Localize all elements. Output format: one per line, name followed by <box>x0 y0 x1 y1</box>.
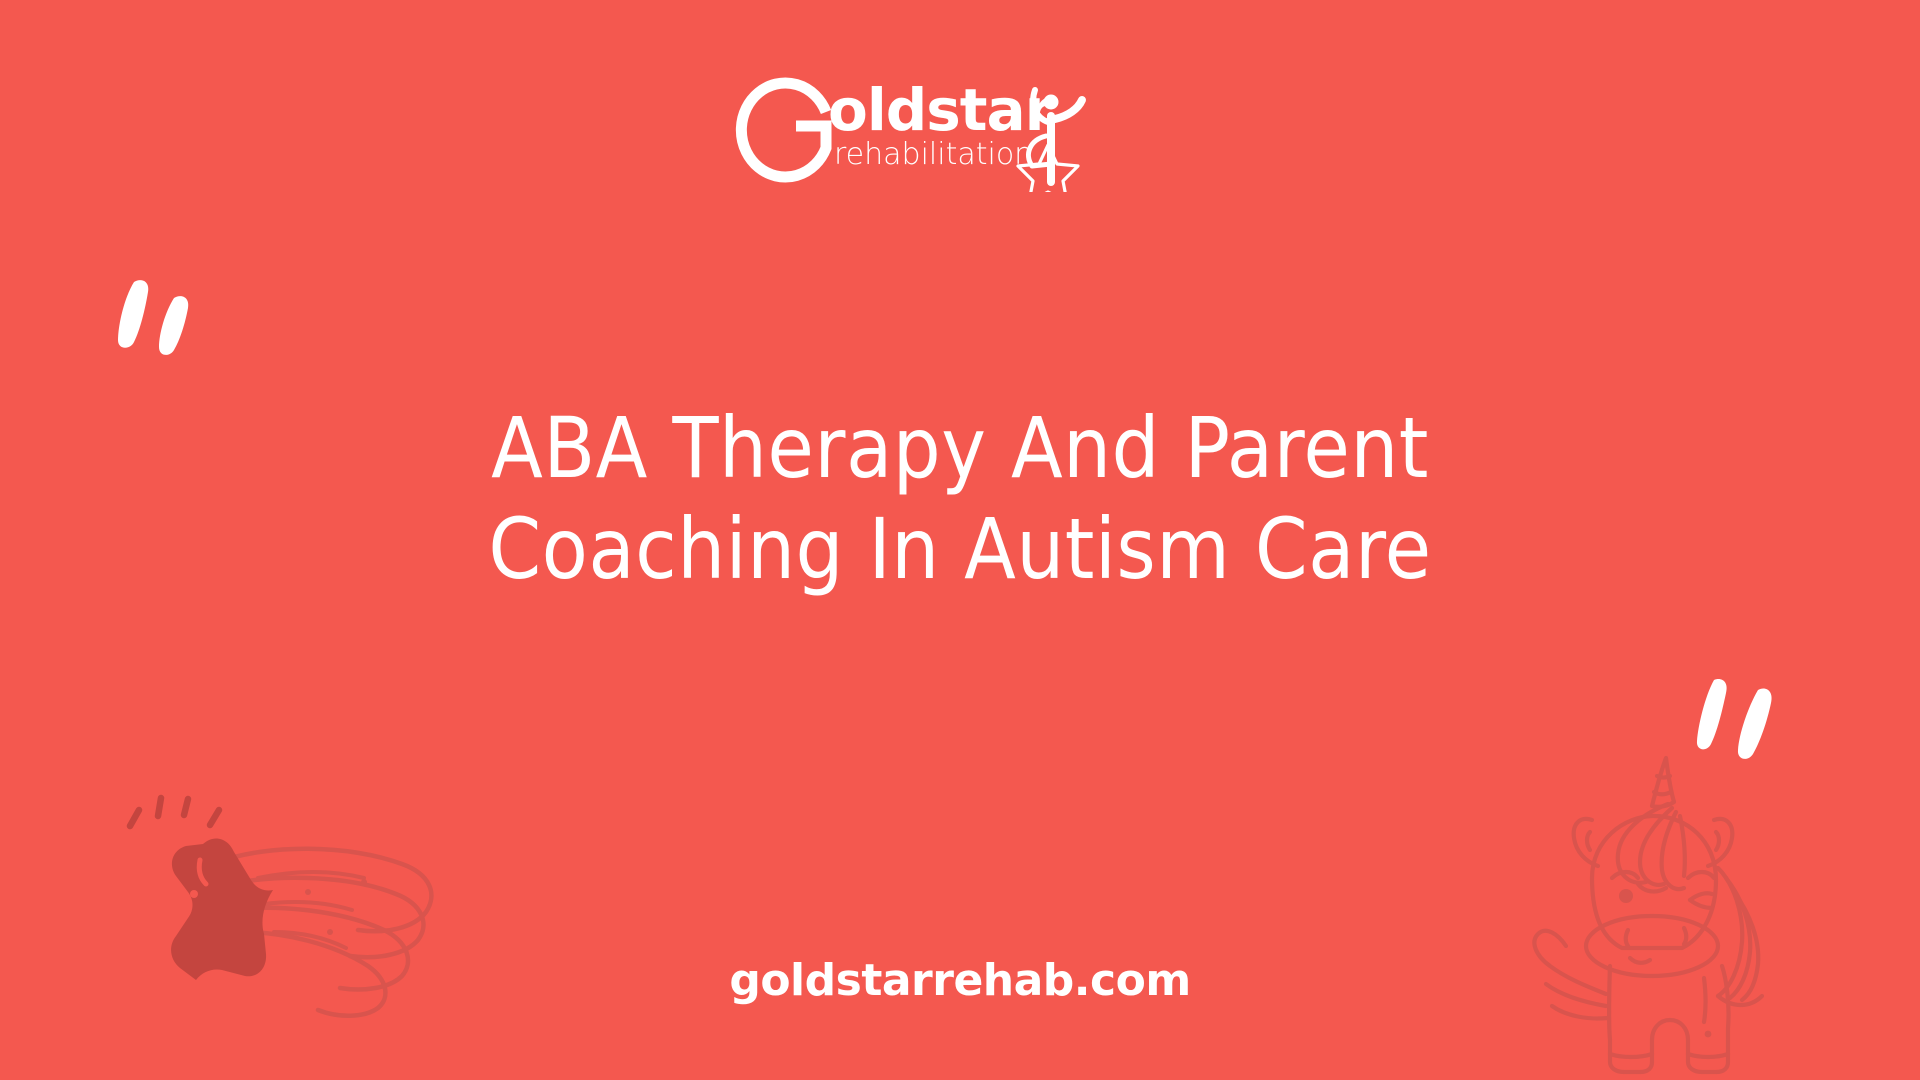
brand-logo-svg: oldstar rehabilitation <box>730 52 1190 192</box>
logo-tagline-text: rehabilitation <box>834 137 1033 172</box>
unicorn-illustration <box>1518 728 1788 1080</box>
unicorn-eyebrow-right <box>1688 872 1714 878</box>
unicorn-eye-right-wink <box>1690 893 1712 900</box>
social-card: oldstar rehabilitation <box>0 0 1920 1080</box>
sparkle-dashes <box>130 798 219 826</box>
logo-wordmark-text: oldstar <box>828 76 1054 144</box>
open-quote-icon <box>112 272 222 362</box>
footer-website-url[interactable]: goldstarrehab.com <box>729 955 1190 1006</box>
shooting-star-icon <box>118 782 448 1022</box>
star-body <box>171 838 273 980</box>
unicorn-eye-left <box>1619 889 1633 903</box>
brand-logo[interactable]: oldstar rehabilitation <box>730 52 1190 192</box>
unicorn-horn <box>1652 758 1674 807</box>
unicorn-icon <box>1518 728 1788 1080</box>
logo-letter-g <box>741 83 826 177</box>
shooting-star-illustration <box>118 782 448 1022</box>
open-quote-mark <box>112 272 222 362</box>
unicorn-head <box>1592 816 1716 948</box>
page-title: ABA Therapy And Parent Coaching In Autis… <box>340 398 1580 600</box>
